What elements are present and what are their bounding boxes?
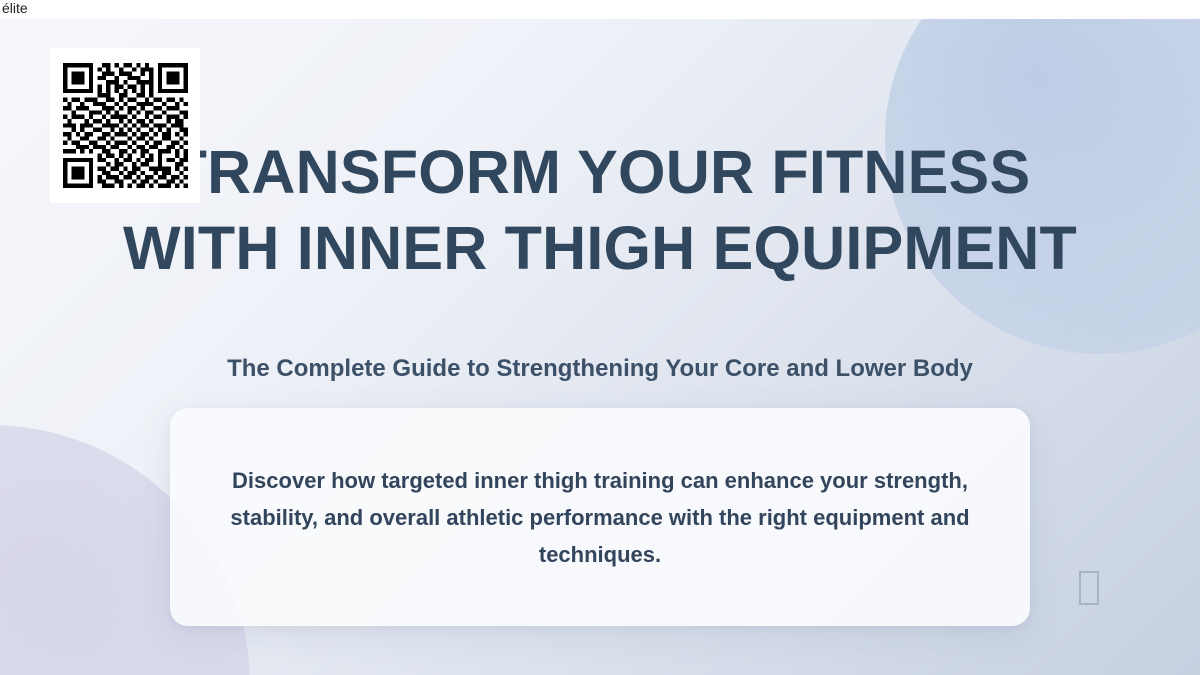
slide-screenshot: élite TRANSFORM YOUR FITNESS WITH INNER …: [0, 0, 1200, 675]
headline-line-2: WITH INNER THIGH EQUIPMENT: [0, 210, 1200, 286]
qr-code-overlay[interactable]: [50, 48, 200, 203]
slide-subtitle: The Complete Guide to Strengthening Your…: [0, 350, 1200, 388]
topbar-label: élite: [2, 0, 28, 18]
browser-top-bar: élite: [0, 0, 1200, 19]
description-card: Discover how targeted inner thigh traini…: [170, 408, 1030, 626]
missing-glyph-box-icon: [1079, 571, 1099, 605]
qr-code-icon: [63, 63, 188, 188]
description-text: Discover how targeted inner thigh traini…: [220, 462, 980, 573]
